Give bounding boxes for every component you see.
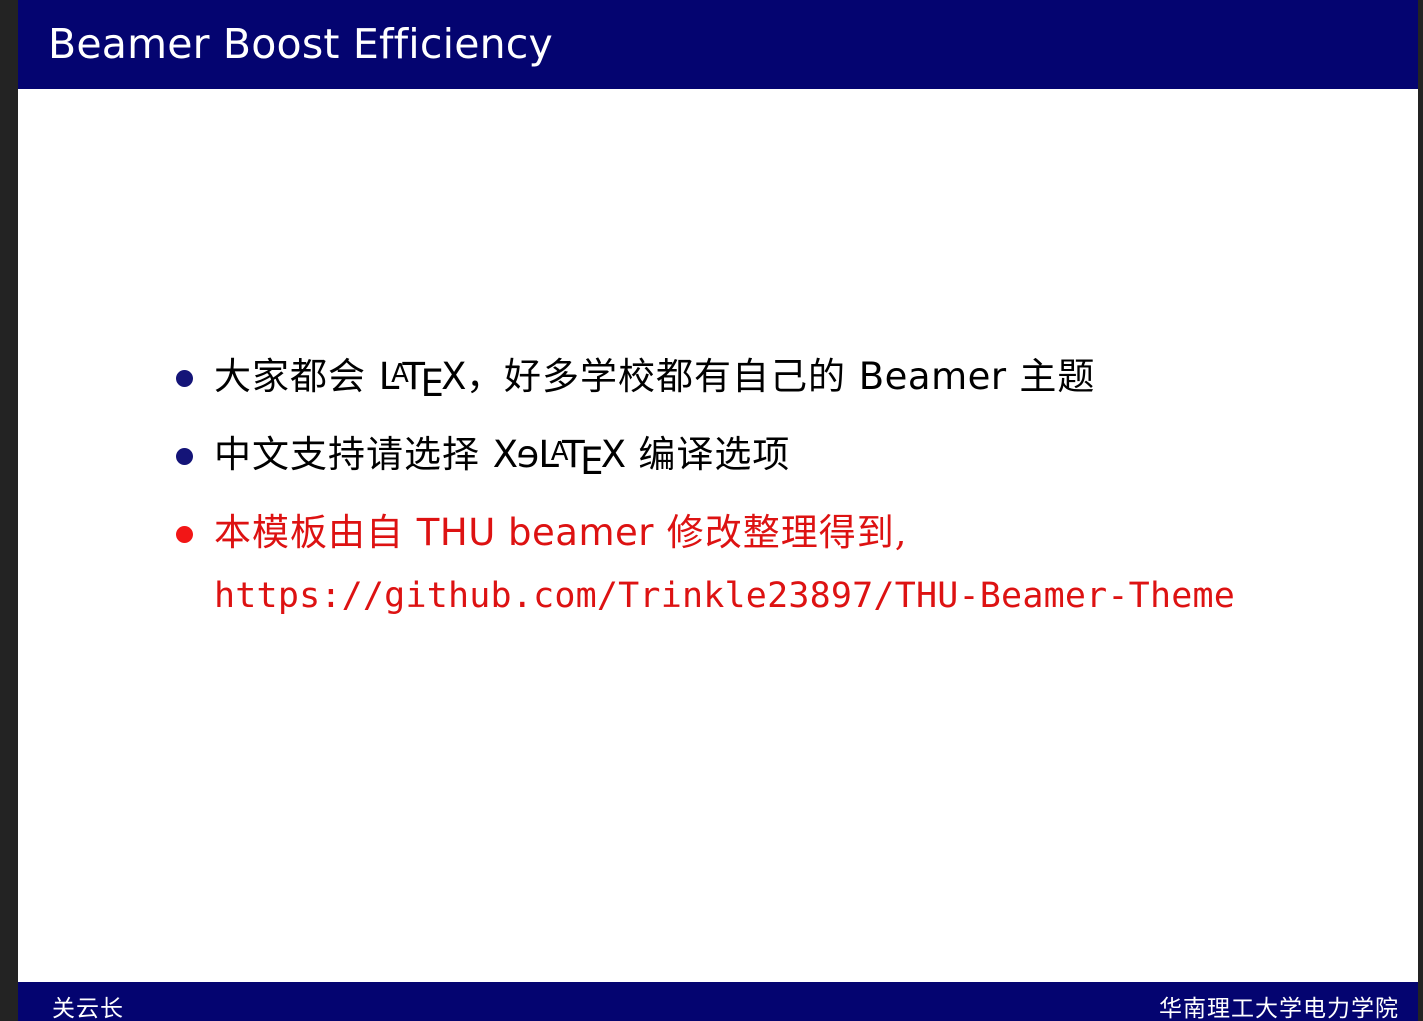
latex-logo-e: E [580,432,603,493]
bullet-1-lead: 大家都会 [214,355,379,398]
slide-footer-bar: 关云长 华南理工大学电力学院 [18,982,1418,1021]
bullet-dot-icon [176,448,193,465]
bullet-dot-icon [176,370,193,387]
slide-content: 大家都会 LATEX，好多学校都有自己的 Beamer 主题 中文支持请选择 X… [18,89,1418,982]
xelatex-logo-e: e [517,425,539,486]
latex-logo-x: X [601,433,626,476]
slide-canvas: Beamer Boost Efficiency 大家都会 LATEX，好多学校都… [18,0,1418,1021]
latex-logo-x: X [441,355,466,398]
bullet-1-tail: 主题 [1007,355,1096,398]
list-item: 中文支持请选择 XeLATEX 编译选项 [158,425,1358,493]
page-title: Beamer Boost Efficiency [48,20,553,68]
bullet-2-lead: 中文支持请选择 [214,433,493,476]
footer-institute: 华南理工大学电力学院 [1159,989,1399,1021]
bullet-1-latin: Beamer [859,355,1007,398]
frame-edge-right [1418,0,1423,1021]
theme-repo-url[interactable]: https://github.com/Trinkle23897/THU-Beam… [214,568,1235,625]
footer-author: 关云长 [52,989,124,1021]
bullet-list: 大家都会 LATEX，好多学校都有自己的 Beamer 主题 中文支持请选择 X… [158,347,1358,635]
frame-edge-left [0,0,18,1021]
bullet-3-lead: 本模板由自 [214,511,417,554]
bullet-2-tail: 编译选项 [626,433,791,476]
list-item: 本模板由自 THU beamer 修改整理得到, https://github.… [158,503,1358,625]
bullet-3-tail: 修改整理得到, [654,511,908,554]
latex-logo-e: E [420,354,443,415]
latex-logo: LATEX [379,347,466,415]
slide-header-bar: Beamer Boost Efficiency [18,0,1418,89]
xelatex-logo-x: X [493,433,518,476]
slide-frame: Beamer Boost Efficiency 大家都会 LATEX，好多学校都… [0,0,1423,1021]
list-item: 大家都会 LATEX，好多学校都有自己的 Beamer 主题 [158,347,1358,415]
xelatex-logo: XeLATEX [493,425,626,493]
bullet-dot-icon [176,526,193,543]
bullet-3-latin: THU beamer [417,511,654,554]
bullet-1-mid: ，好多学校都有自己的 [466,355,859,398]
